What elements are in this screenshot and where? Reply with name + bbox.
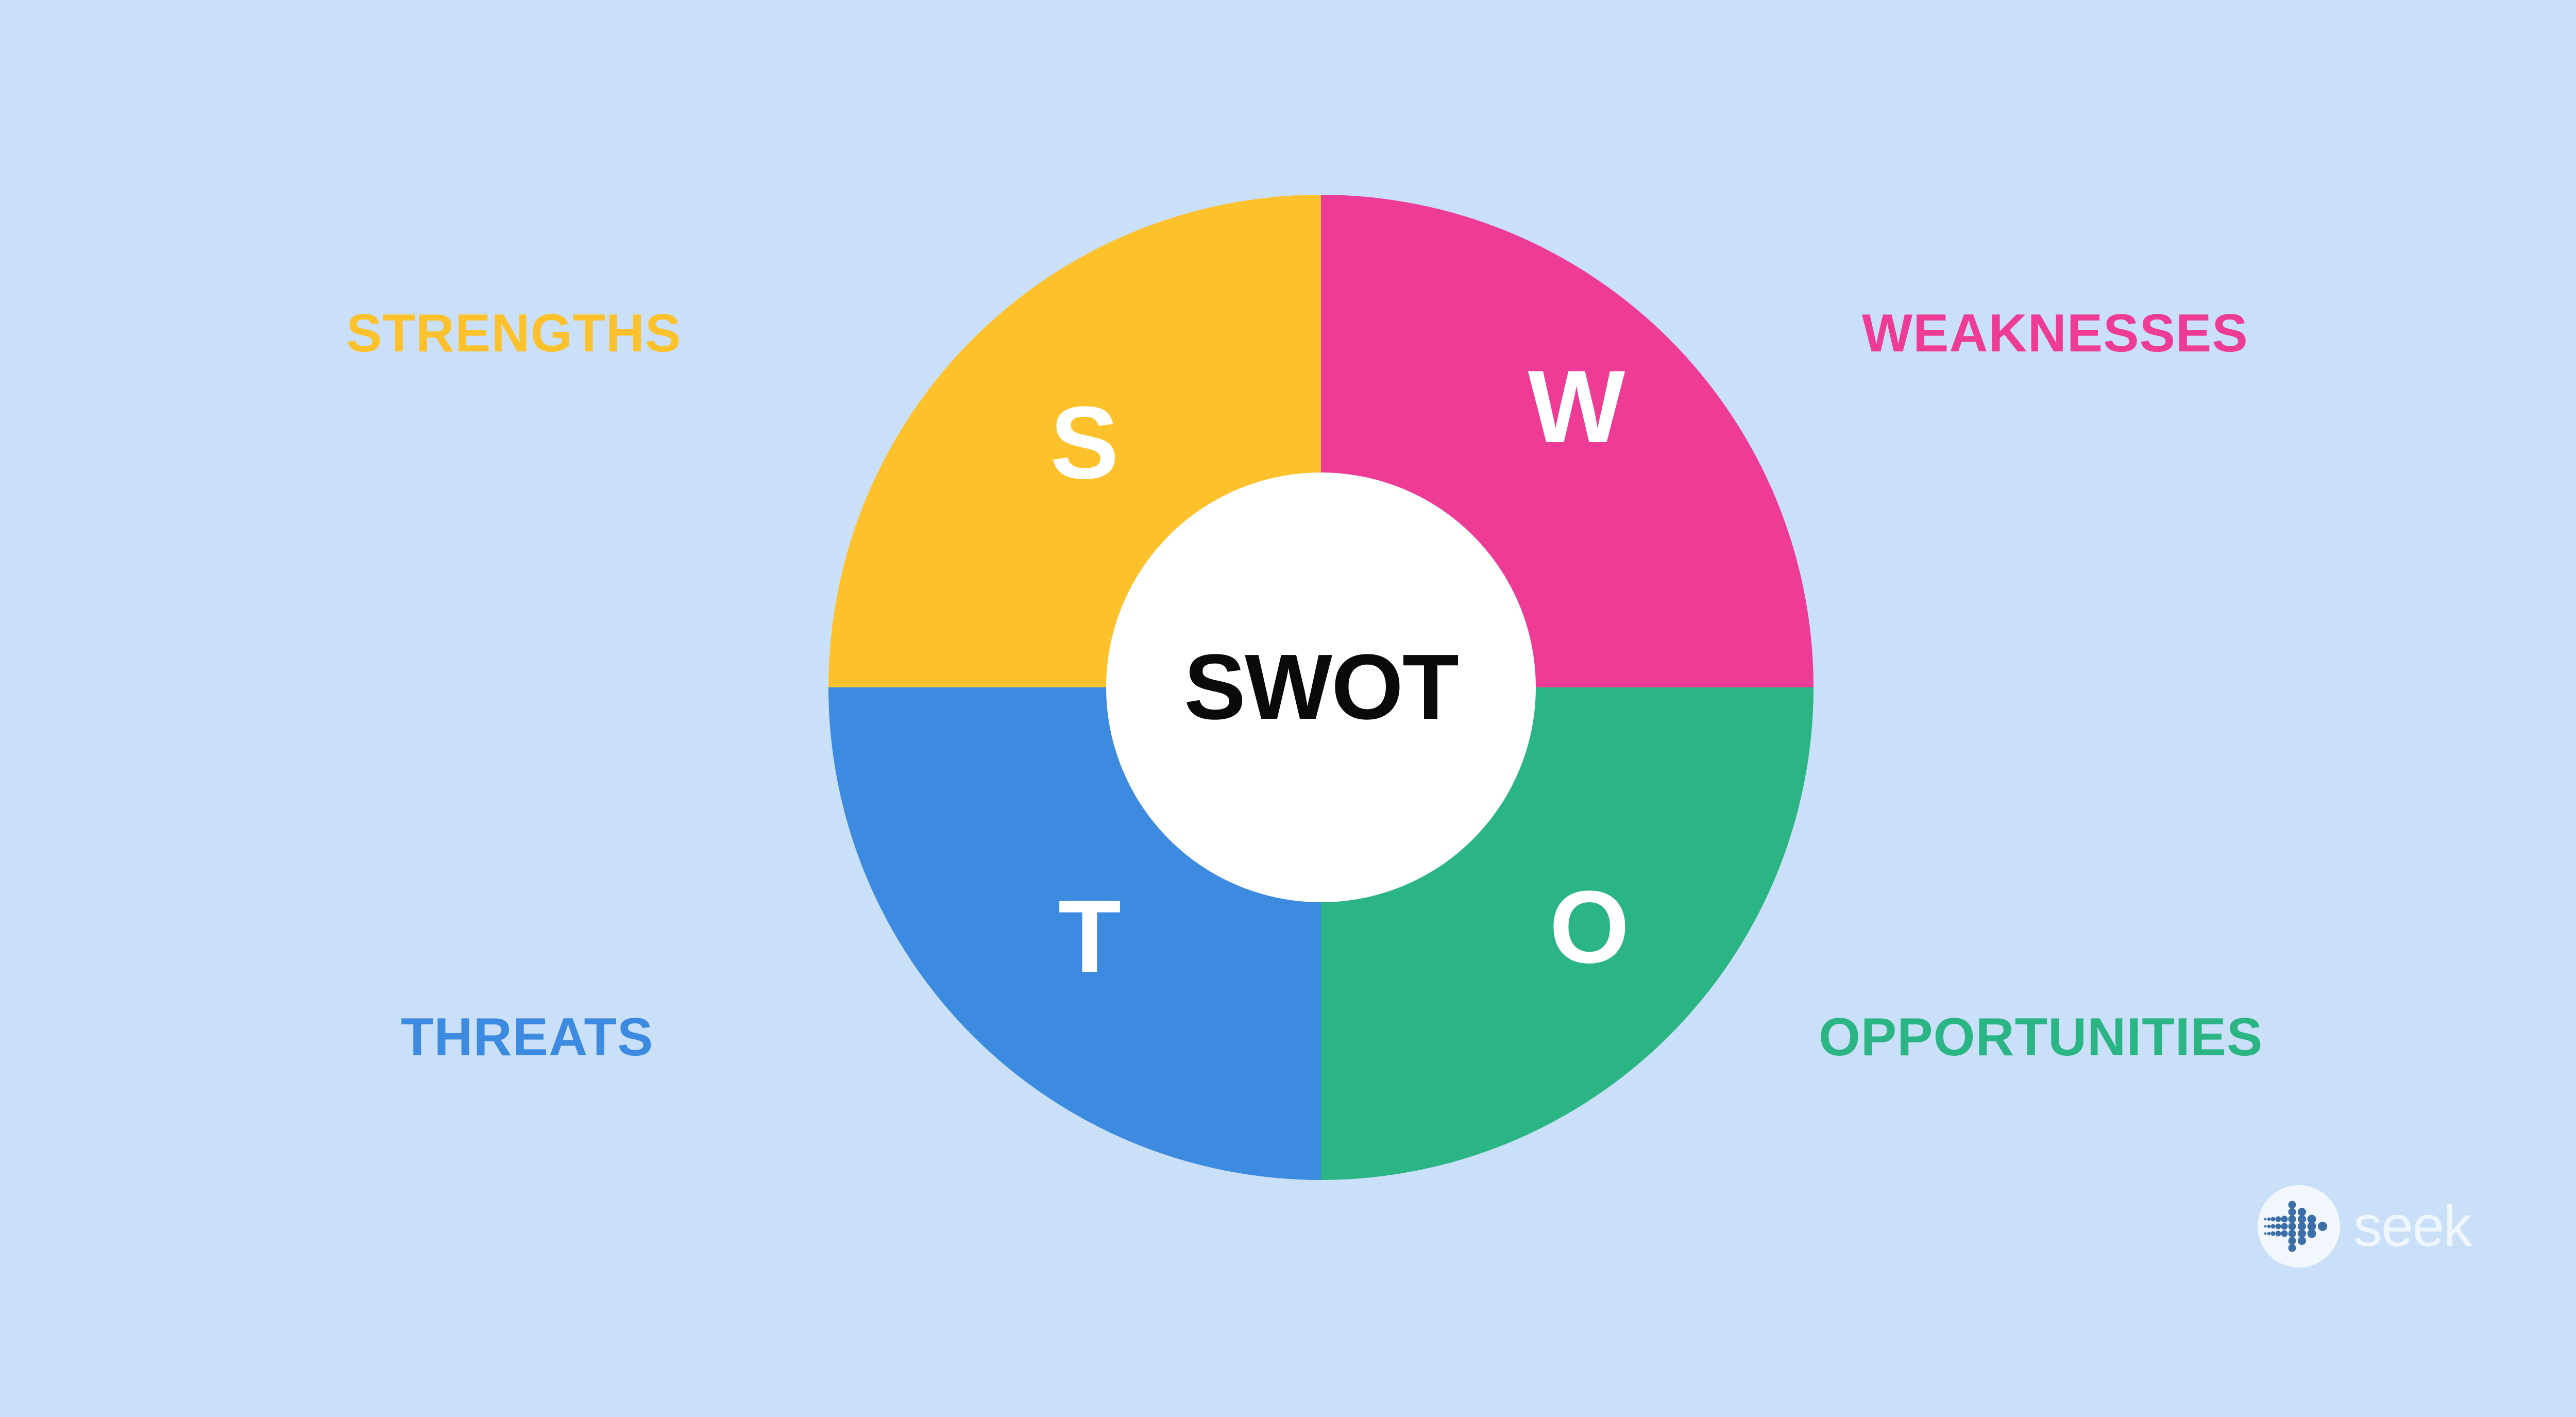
label-weaknesses[interactable]: WEAKNESSES: [1862, 305, 2248, 362]
brand-logo[interactable]: seek: [2258, 1185, 2471, 1268]
label-opportunities[interactable]: OPPORTUNITIES: [1819, 1009, 2263, 1066]
label-threats[interactable]: THREATS: [401, 1009, 653, 1066]
dotted-arrow-right-icon: [2258, 1185, 2340, 1268]
label-strengths[interactable]: STRENGTHS: [346, 305, 681, 362]
swot-hub-label: SWOT: [1106, 639, 1536, 736]
brand-wordmark: seek: [2353, 1197, 2471, 1255]
diagram-canvas: S W O T SWOT STRENGTHS WEAKNESSES OPPORT…: [0, 0, 2576, 1417]
quadrant-initial-weaknesses: W: [1499, 356, 1654, 459]
quadrant-initial-strengths: S: [1007, 392, 1162, 495]
quadrant-initial-threats: T: [1012, 885, 1167, 988]
quadrant-initial-opportunities: O: [1512, 876, 1667, 979]
